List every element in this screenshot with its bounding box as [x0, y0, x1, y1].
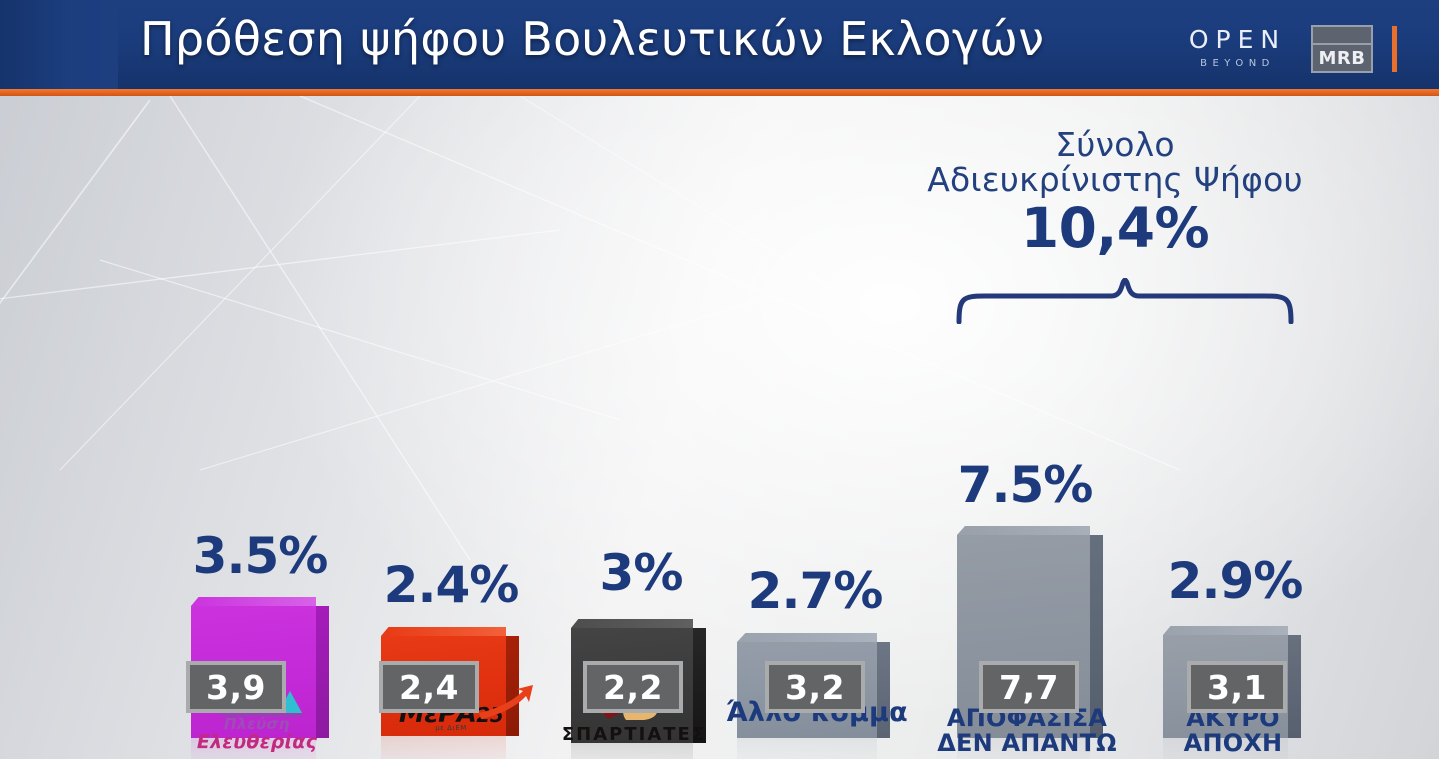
- bar-top-face: [571, 619, 693, 628]
- previous-value-text: 3,1: [1191, 665, 1283, 709]
- bar-value-plefsi: 3.5%: [193, 531, 328, 581]
- previous-value-chip: 3,2: [765, 661, 865, 713]
- bar-value-lefko-akyro: 2.9%: [1168, 556, 1303, 606]
- previous-value-chip: 7,7: [979, 661, 1079, 713]
- bar-value-allo-komma: 2.7%: [748, 566, 883, 616]
- previous-value-text: 2,4: [383, 665, 475, 709]
- bar-value-den-apofasisa: 7.5%: [958, 460, 1093, 510]
- spartiates-logo-word: ΣΠΑΡΤΙΑΤΕΣ: [559, 726, 709, 744]
- previous-value-text: 3,2: [769, 665, 861, 709]
- lefko-label-line3: ΑΠΟΧΗ: [1184, 731, 1283, 755]
- previous-values-row: 3,9 2,4 2,2 3,2 7,7 3,1: [0, 661, 1439, 717]
- previous-value-text: 2,2: [587, 665, 679, 709]
- previous-value-chip: 3,1: [1187, 661, 1287, 713]
- previous-value-text: 7,7: [983, 665, 1075, 709]
- bar-reflection: [737, 738, 877, 759]
- previous-value-chip: 3,9: [186, 661, 286, 713]
- bar-top-face: [381, 627, 506, 636]
- previous-value-chip: 2,4: [379, 661, 479, 713]
- bar-reflection: [381, 736, 506, 759]
- bar-top-face: [957, 526, 1090, 535]
- poll-graphic: Πρόθεση ψήφου Βουλευτικών Εκλογών OPEN B…: [0, 0, 1439, 759]
- bar-value-mera25: 2.4%: [384, 560, 519, 610]
- den-apofasisa-label-line3: ΔΕΝ ΑΠΑΝΤΩ: [937, 731, 1117, 755]
- bar-top-face: [737, 633, 877, 642]
- bar-top-face: [1163, 626, 1288, 635]
- previous-value-chip: 2,2: [583, 661, 683, 713]
- previous-value-text: 3,9: [190, 665, 282, 709]
- plefsi-logo-line2: Ελευθερίας: [192, 733, 322, 753]
- bar-top-face: [191, 597, 316, 606]
- bar-chart: 3.5% Πλεύση Ελευθερίας: [0, 0, 1439, 759]
- bar-value-spartiates: 3%: [600, 548, 683, 598]
- bar-reflection: [571, 743, 693, 759]
